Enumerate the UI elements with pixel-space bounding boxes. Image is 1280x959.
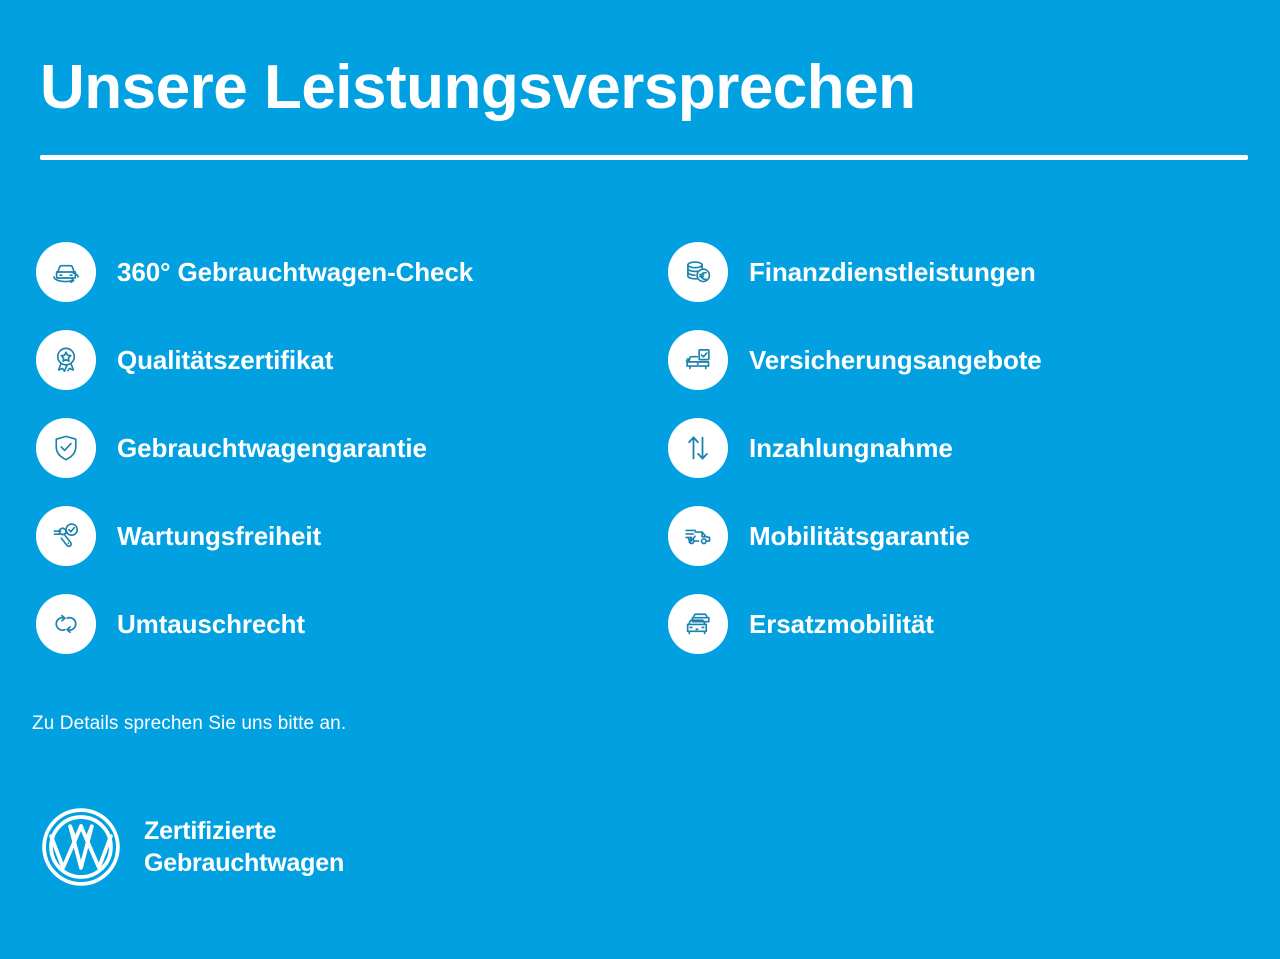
insurance-car-check-icon xyxy=(668,330,728,390)
two-cars-icon xyxy=(668,594,728,654)
feature-item-quality[interactable]: Qualitätszertifikat xyxy=(36,316,668,404)
feature-grid: 360° Gebrauchtwagen-Check Finanzdienstle… xyxy=(36,228,1246,668)
feature-label: Mobilitätsgarantie xyxy=(749,521,970,552)
feature-item-insurance[interactable]: Versicherungsangebote xyxy=(668,316,1246,404)
mobility-car-speed-icon xyxy=(668,506,728,566)
wrench-check-icon xyxy=(36,506,96,566)
feature-item-warranty[interactable]: Gebrauchtwagengarantie xyxy=(36,404,668,492)
feature-item-replacement[interactable]: Ersatzmobilität xyxy=(668,580,1246,668)
exchange-arrows-icon xyxy=(36,594,96,654)
shield-check-icon xyxy=(36,418,96,478)
feature-item-mobility[interactable]: Mobilitätsgarantie xyxy=(668,492,1246,580)
feature-item-trade-in[interactable]: Inzahlungnahme xyxy=(668,404,1246,492)
feature-label: Qualitätszertifikat xyxy=(117,345,333,376)
brand-lockup: Zertifizierte Gebrauchtwagen xyxy=(40,806,344,888)
feature-label: Inzahlungnahme xyxy=(749,433,953,464)
feature-label: 360° Gebrauchtwagen-Check xyxy=(117,257,473,288)
feature-label: Wartungsfreiheit xyxy=(117,521,321,552)
brand-text: Zertifizierte Gebrauchtwagen xyxy=(144,815,344,879)
feature-label: Umtauschrecht xyxy=(117,609,305,640)
brand-line-2: Gebrauchtwagen xyxy=(144,847,344,879)
quality-award-icon xyxy=(36,330,96,390)
feature-item-finance[interactable]: Finanzdienstleistungen xyxy=(668,228,1246,316)
promise-panel: Unsere Leistungsversprechen 360° Gebrauc… xyxy=(0,0,1280,959)
brand-line-1: Zertifizierte xyxy=(144,815,344,847)
feature-item-360-check[interactable]: 360° Gebrauchtwagen-Check xyxy=(36,228,668,316)
feature-item-exchange[interactable]: Umtauschrecht xyxy=(36,580,668,668)
feature-label: Ersatzmobilität xyxy=(749,609,934,640)
feature-label: Versicherungsangebote xyxy=(749,345,1042,376)
feature-item-maintenance[interactable]: Wartungsfreiheit xyxy=(36,492,668,580)
trade-in-arrows-icon xyxy=(668,418,728,478)
feature-label: Finanzdienstleistungen xyxy=(749,257,1036,288)
footnote-text: Zu Details sprechen Sie uns bitte an. xyxy=(32,713,346,735)
volkswagen-logo-icon xyxy=(40,806,122,888)
car-360-check-icon xyxy=(36,242,96,302)
header-divider xyxy=(40,155,1248,160)
page-title: Unsere Leistungsversprechen xyxy=(40,55,916,120)
feature-label: Gebrauchtwagengarantie xyxy=(117,433,427,464)
finance-euro-coins-icon xyxy=(668,242,728,302)
